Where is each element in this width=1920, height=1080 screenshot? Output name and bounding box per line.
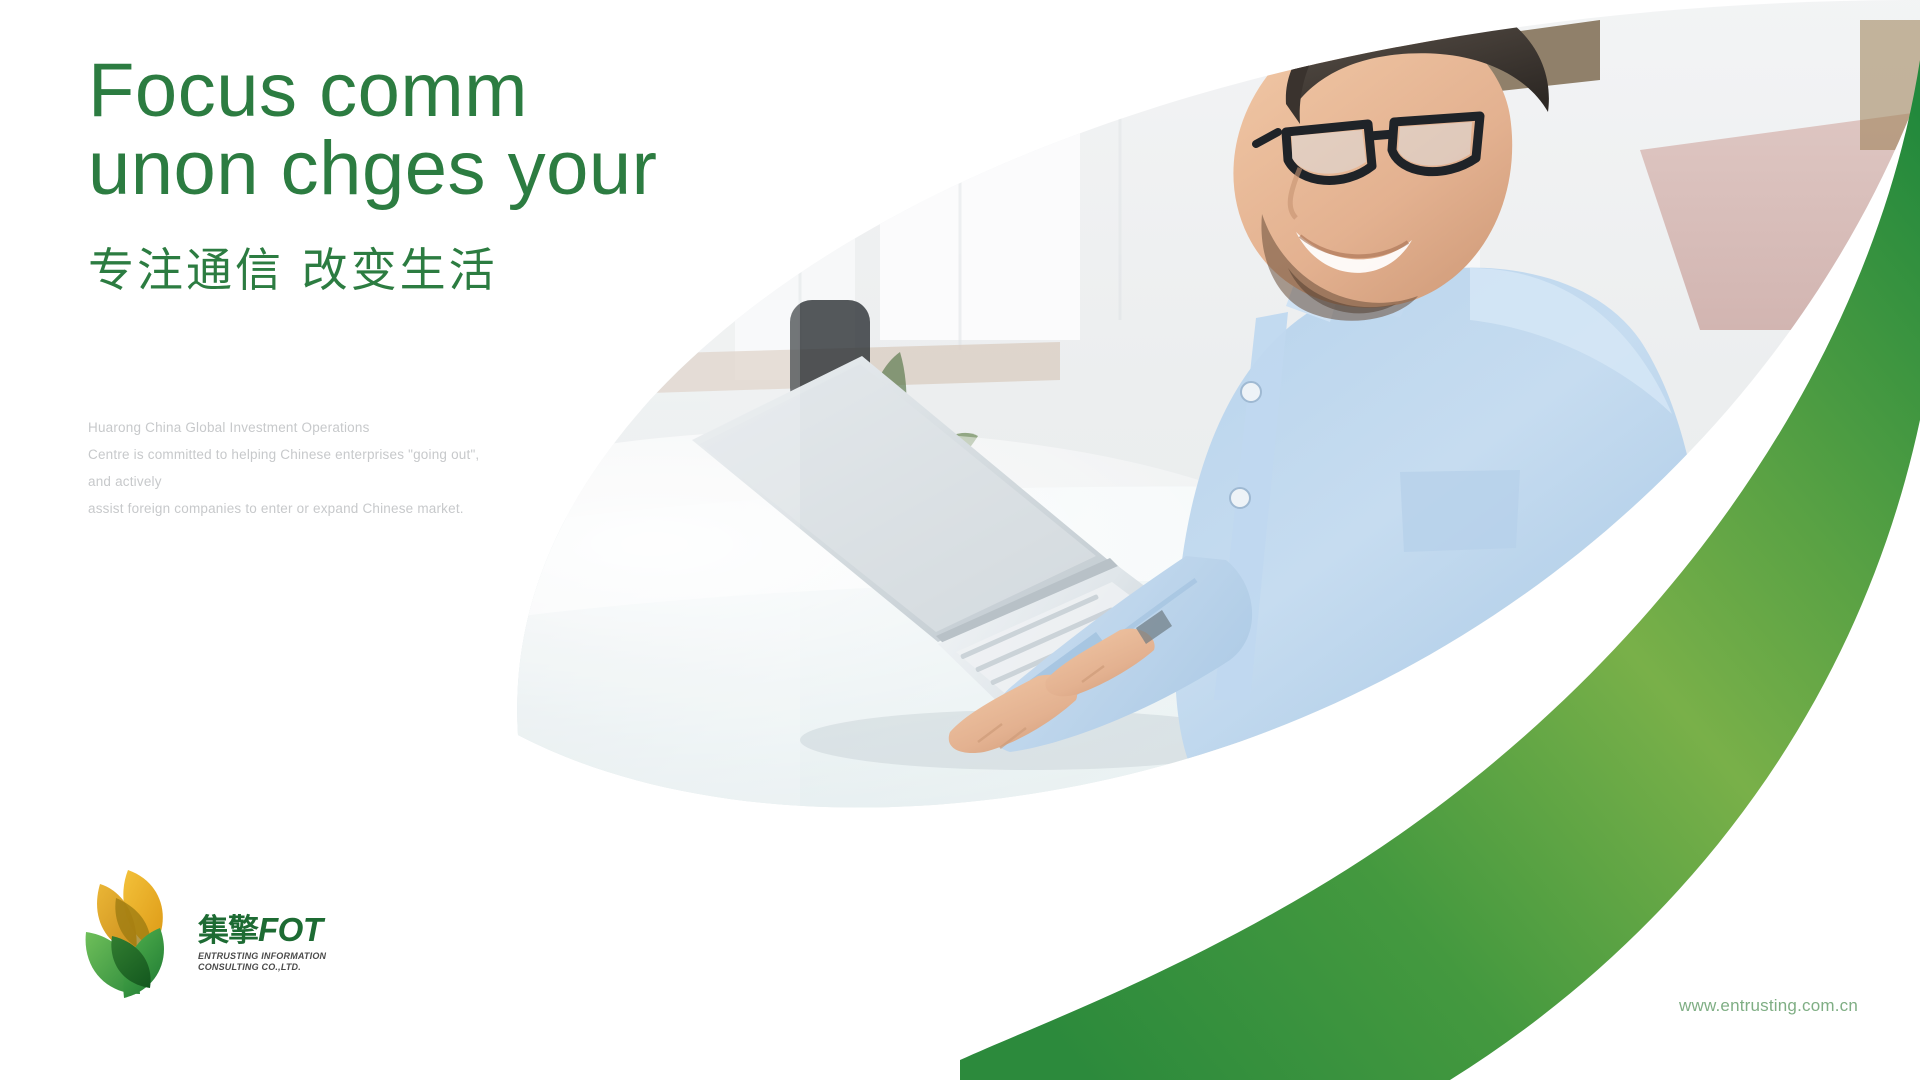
fot-petal-mark-icon (76, 862, 188, 1002)
logo-wordmark: 集擎FOT ENTRUSTING INFORMATION CONSULTING … (198, 891, 326, 972)
body-paragraph: Huarong China Global Investment Operatio… (88, 414, 498, 522)
green-crescent-band (900, 0, 1920, 1080)
presentation-slide: Focus comm unon chges your 专注通信 改变生活 Hua… (0, 0, 1920, 1080)
company-logo[interactable]: 集擎FOT ENTRUSTING INFORMATION CONSULTING … (76, 862, 326, 1002)
logo-wordmark-cn: 集擎 (198, 913, 258, 949)
body-line-2: Centre is committed to helping Chinese e… (88, 441, 498, 495)
body-line-1: Huarong China Global Investment Operatio… (88, 414, 498, 441)
body-line-3: assist foreign companies to enter or exp… (88, 495, 498, 522)
text-column: Focus comm unon chges your 专注通信 改变生活 Hua… (88, 52, 708, 522)
logo-tagline: ENTRUSTING INFORMATION CONSULTING CO.,LT… (198, 951, 326, 972)
page-subtitle: 专注通信 改变生活 (88, 243, 708, 298)
logo-wordmark-text: 集擎FOT (198, 913, 326, 947)
logo-wordmark-latin: FOT (258, 911, 322, 948)
page-title: Focus comm unon chges your (88, 52, 708, 209)
website-url[interactable]: www.entrusting.com.cn (1679, 996, 1858, 1016)
